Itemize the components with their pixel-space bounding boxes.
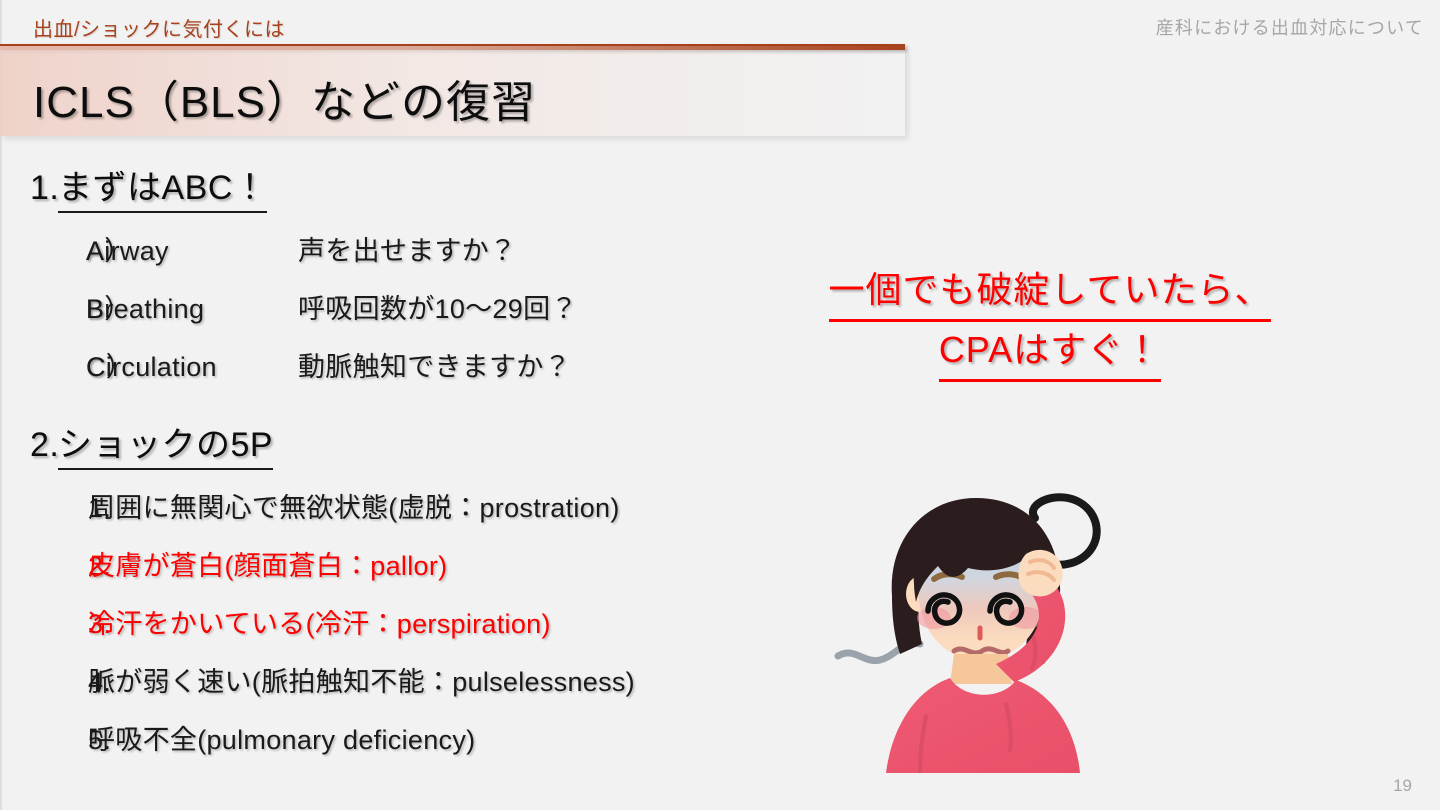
section-kicker: 出血/ショックに気付くには xyxy=(33,13,285,42)
section-2-heading: ショックの5P xyxy=(58,417,273,470)
dizzy-pale-woman-illustration xyxy=(830,468,1140,773)
section-1-number: 1. xyxy=(0,169,58,208)
breathing-question: 呼吸回数が10〜29回？ xyxy=(298,287,578,326)
airway-marker: A） xyxy=(0,229,86,268)
page-number: 19 xyxy=(1393,776,1412,796)
slide: 出血/ショックに気付くには 産科における出血対応について ICLS（BLS）など… xyxy=(0,0,1440,810)
airway-term: Airway xyxy=(86,236,298,267)
5p-4-text: 脈が弱く速い(脈拍触知不能：pulselessness) xyxy=(88,660,635,699)
callout-line-2: CPAはすぐ！ xyxy=(939,322,1161,382)
list-item-breathing: B） Breathing 呼吸回数が10〜29回？ xyxy=(0,287,820,345)
breathing-term: Breathing xyxy=(86,294,298,325)
5p-1-marker: 1. xyxy=(0,493,88,524)
shirt xyxy=(886,678,1080,773)
list-item-circulation: C） Circulation 動脈触知できますか？ xyxy=(0,345,820,403)
circulation-marker: C） xyxy=(0,345,86,384)
5p-1-text: 周囲に無関心で無欲状態(虚脱：prostration) xyxy=(88,486,620,525)
5p-4-marker: 4. xyxy=(0,667,88,698)
5p-3-marker: 3. xyxy=(0,609,88,640)
5p-3-text: 冷汗をかいている(冷汗：perspiration) xyxy=(88,602,551,641)
callout-line-1-wrap: 一個でも破綻していたら、 xyxy=(790,262,1310,322)
airway-question: 声を出せますか？ xyxy=(298,229,516,268)
5p-5-marker: 5. xyxy=(0,725,88,756)
callout-text: 一個でも破綻していたら、 CPAはすぐ！ xyxy=(790,262,1310,382)
list-item-5p-4: 4. 脈が弱く速い(脈拍触知不能：pulselessness) xyxy=(0,660,820,718)
content-body: 1. まずはABC！ A） Airway 声を出せますか？ B） Breathi… xyxy=(0,160,820,776)
list-item-section-1: 1. まずはABC！ xyxy=(0,160,820,213)
callout-line-2-wrap: CPAはすぐ！ xyxy=(790,322,1310,382)
section-1-heading: まずはABC！ xyxy=(58,160,267,213)
5p-2-text: 皮膚が蒼白(顔面蒼白：pallor) xyxy=(88,544,447,583)
list-item-5p-1: 1. 周囲に無関心で無欲状態(虚脱：prostration) xyxy=(0,486,820,544)
list-item-section-2: 2. ショックの5P xyxy=(0,417,820,470)
circulation-question: 動脈触知できますか？ xyxy=(298,345,571,384)
5p-2-marker: 2. xyxy=(0,551,88,582)
list-item-airway: A） Airway 声を出せますか？ xyxy=(0,229,820,287)
5p-5-text: 呼吸不全(pulmonary deficiency) xyxy=(88,718,475,757)
circulation-term: Circulation xyxy=(86,352,298,383)
list-item-5p-5: 5. 呼吸不全(pulmonary deficiency) xyxy=(0,718,820,776)
callout-line-1: 一個でも破綻していたら、 xyxy=(829,262,1272,322)
section-2-number: 2. xyxy=(0,426,58,465)
breathing-marker: B） xyxy=(0,287,86,326)
list-item-5p-2: 2. 皮膚が蒼白(顔面蒼白：pallor) xyxy=(0,544,820,602)
deck-title: 産科における出血対応について xyxy=(1156,14,1424,40)
list-item-5p-3: 3. 冷汗をかいている(冷汗：perspiration) xyxy=(0,602,820,660)
page-title: ICLS（BLS）などの復習 xyxy=(33,66,536,130)
